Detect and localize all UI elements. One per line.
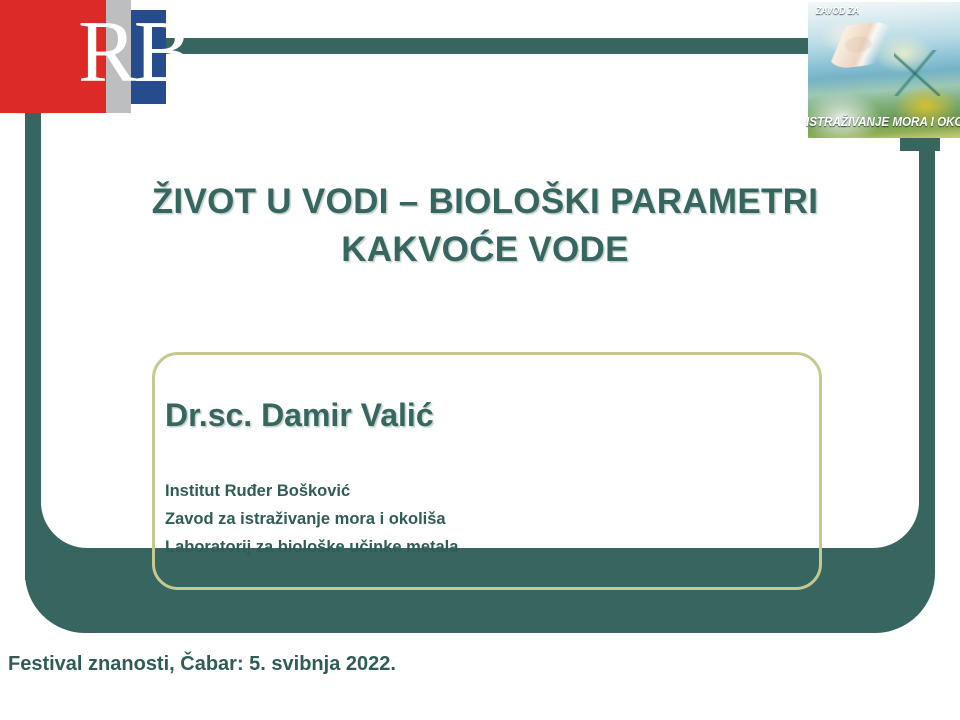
slide-footer: Festival znanosti, Čabar: 5. svibnja 202…	[8, 653, 396, 676]
author-affiliation: Institut Ruđer BoškovićZavod za istraživ…	[165, 477, 458, 561]
hand-with-sampler-icon	[826, 20, 897, 70]
institute-logo: RB	[0, 0, 170, 115]
presentation-slide: { "slide": { "title": "ŽIVOT U VODI – BI…	[0, 0, 960, 720]
page-title: ŽIVOT U VODI – BIOLOŠKI PARAMETRI KAKVOĆ…	[60, 178, 910, 274]
frame-left-vertical-bar	[25, 110, 41, 580]
department-logo-bottom-label: ISTRAŽIVANJE MORA I OKOLIŠA	[806, 115, 960, 129]
logo-rb-letters: RB	[78, 9, 189, 97]
seabird-icon	[894, 50, 940, 96]
department-logo-top-label: ZAVOD ZA	[816, 6, 859, 17]
author-affiliation-line: Zavod za istraživanje mora i okoliša	[165, 505, 458, 533]
author-info-box: Dr.sc. Damir Valić Institut Ruđer Boškov…	[152, 352, 822, 590]
author-name: Dr.sc. Damir Valić	[165, 397, 434, 434]
department-logo: ZAVOD ZA ISTRAŽIVANJE MORA I OKOLIŠA	[800, 0, 960, 140]
frame-right-vertical-bar	[919, 140, 935, 520]
frame-top-horizontal-bar	[166, 38, 811, 54]
author-affiliation-line: Institut Ruđer Bošković	[165, 477, 458, 505]
author-affiliation-line: Laboratorij za biološke učinke metala	[165, 533, 458, 561]
